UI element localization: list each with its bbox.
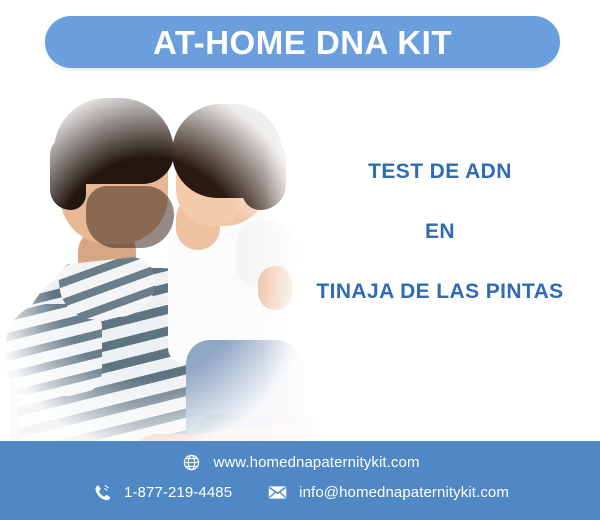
headline-line-3: TINAJA DE LAS PINTAS [290, 280, 590, 304]
child-hair-side [242, 136, 286, 210]
headline-line-1: TEST DE ADN [290, 160, 590, 184]
header-title: AT-HOME DNA KIT [153, 26, 452, 59]
phone-text: 1-877-219-4485 [124, 484, 232, 501]
footer-bar: www.homednapaternitykit.com 1-877-219-44… [0, 441, 600, 520]
email-contact[interactable]: info@homednapaternitykit.com [266, 481, 509, 503]
family-photo [0, 78, 330, 498]
phone-contact[interactable]: 1-877-219-4485 [91, 481, 232, 503]
header-banner: AT-HOME DNA KIT [45, 16, 560, 68]
envelope-icon [266, 481, 288, 503]
website-contact[interactable]: www.homednapaternitykit.com [180, 451, 419, 473]
man-hair-side [50, 136, 86, 210]
website-text: www.homednapaternitykit.com [213, 454, 419, 471]
footer-row-phone-email: 1-877-219-4485 info@homednapaternitykit.… [0, 481, 600, 503]
man-beard [86, 186, 174, 248]
phone-icon [91, 481, 113, 503]
email-text: info@homednapaternitykit.com [299, 484, 509, 501]
globe-icon [180, 451, 202, 473]
child-arm-right [258, 266, 292, 310]
poster-canvas: AT-HOME DNA KIT TEST DE ADN EN TINAJA DE… [0, 0, 600, 520]
footer-row-website: www.homednapaternitykit.com [0, 451, 600, 473]
headline-block: TEST DE ADN EN TINAJA DE LAS PINTAS [290, 160, 590, 304]
footer-contact-rows: www.homednapaternitykit.com 1-877-219-44… [0, 451, 600, 503]
headline-line-2: EN [290, 220, 590, 244]
